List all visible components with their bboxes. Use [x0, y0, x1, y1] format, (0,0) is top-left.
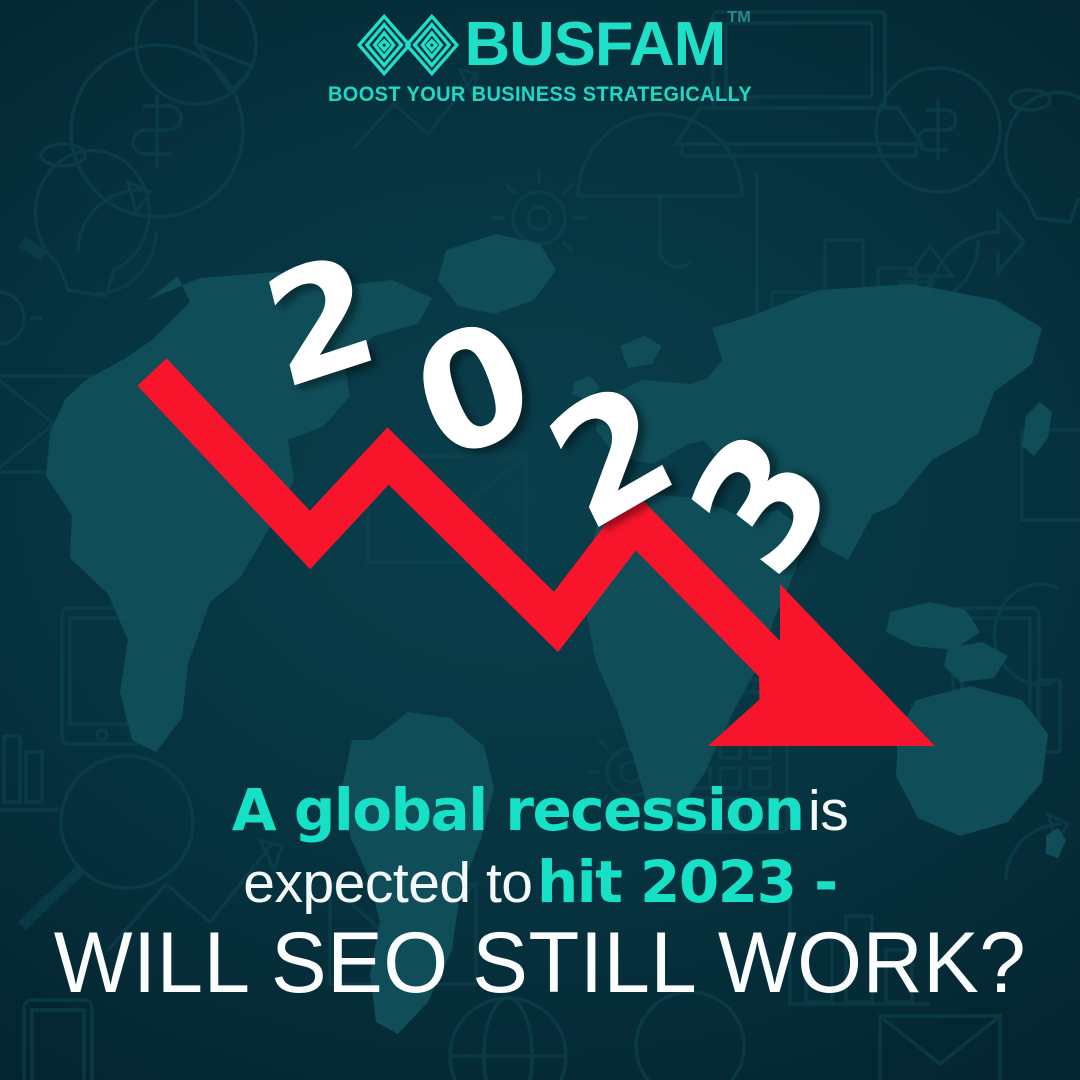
logo-row: BUSFAM TM	[357, 14, 723, 76]
logo-word-text: BUSFAM	[465, 10, 726, 79]
year-digit-3: 2	[528, 356, 695, 556]
headline-plain-expected: expected to	[243, 851, 532, 915]
brand-logo[interactable]: BUSFAM TM BOOST YOUR BUSINESS STRATEGICA…	[0, 14, 1080, 107]
headline-accent-hit2023: hit 2023 -	[537, 848, 837, 916]
headline-line-1: A global recession is	[18, 776, 1062, 844]
social-media-poster: BUSFAM TM BOOST YOUR BUSINESS STRATEGICA…	[0, 0, 1080, 1080]
headline-line-2: expected to hit 2023 -	[18, 848, 1062, 916]
logo-wordmark: BUSFAM TM	[465, 16, 726, 75]
maze-diamond-icon	[357, 14, 459, 76]
year-digit-1: 2	[252, 232, 389, 413]
headline-accent-recession: A global recession	[232, 776, 804, 844]
headline-block: A global recession is expected to hit 20…	[0, 776, 1080, 1008]
year-digit-2: 0	[397, 294, 552, 488]
logo-tagline: BOOST YOUR BUSINESS STRATEGICALLY	[328, 82, 752, 107]
headline-line-3: WILL SEO STILL WORK?	[34, 918, 1047, 1008]
headline-plain-is: is	[808, 779, 848, 843]
trademark-symbol: TM	[727, 10, 751, 25]
year-digit-4: 3	[666, 404, 862, 602]
